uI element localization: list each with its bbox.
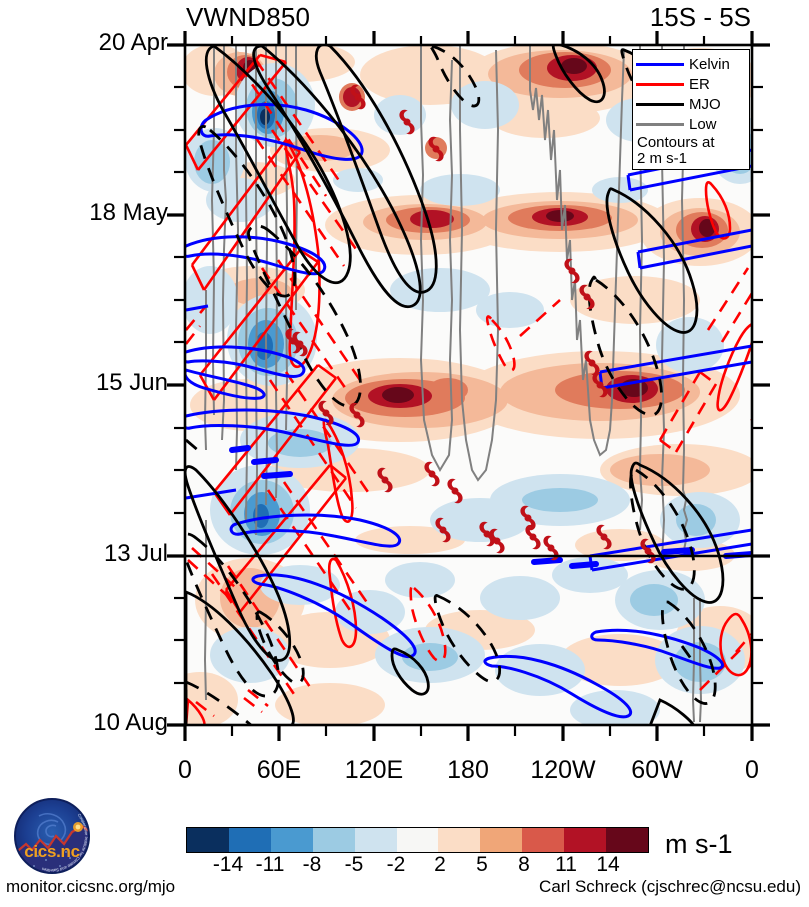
low-line-swatch [636, 123, 684, 126]
colorbar-swatch-3 [313, 828, 355, 852]
legend-note-line2: 2 m s-1 [637, 151, 749, 167]
legend-note-line1: Contours at [637, 135, 749, 151]
colorbar-unit-label: m s-1 [665, 829, 733, 860]
y-tick-label-0: 20 Apr [8, 29, 168, 57]
legend-label-er: ER [689, 77, 710, 92]
er-line-swatch [636, 83, 684, 86]
x-tick-label-3: 180 [423, 756, 513, 785]
colorbar-swatch-5 [397, 828, 439, 852]
colorbar-swatch-10 [606, 828, 648, 852]
x-tick-label-1: 60E [234, 756, 324, 785]
y-tick-label-3: 13 Jul [8, 540, 168, 568]
cics-nc-logo[interactable]: Cooperative Institute for Climate and Sa… [12, 796, 92, 876]
legend-label-mjo: MJO [689, 97, 721, 112]
colorbar-tick-9: 14 [578, 853, 638, 877]
colorbar-swatch-8 [522, 828, 564, 852]
mjo-line-swatch [636, 103, 684, 106]
colorbar [186, 827, 649, 853]
footer-credit: Carl Schreck (cjschrec@ncsu.edu) [539, 877, 801, 897]
x-tick-label-6: 0 [707, 756, 797, 785]
colorbar-swatch-2 [271, 828, 313, 852]
colorbar-swatch-6 [438, 828, 480, 852]
legend-item-kelvin: Kelvin [633, 54, 749, 74]
colorbar-swatch-4 [355, 828, 397, 852]
legend-item-er: ER [633, 74, 749, 94]
colorbar-swatch-1 [229, 828, 271, 852]
legend-item-low: Low [633, 114, 749, 134]
x-tick-label-0: 0 [140, 756, 230, 785]
colorbar-ticks: -14 -11 -8 -5 -2 2 5 8 11 14 [186, 853, 649, 879]
kelvin-line-swatch [636, 63, 684, 66]
legend-label-kelvin: Kelvin [689, 57, 730, 72]
legend-label-low: Low [689, 117, 717, 132]
y-tick-label-2: 15 Jun [8, 369, 168, 397]
x-tick-label-4: 120W [518, 756, 608, 785]
footer-url[interactable]: monitor.cicsnc.org/mjo [6, 877, 175, 897]
legend-item-mjo: MJO [633, 94, 749, 114]
x-tick-label-2: 120E [329, 756, 419, 785]
y-tick-label-4: 10 Aug [8, 709, 168, 737]
colorbar-swatch-7 [480, 828, 522, 852]
y-tick-label-1: 18 May [8, 199, 168, 227]
x-tick-label-5: 60W [612, 756, 702, 785]
hovmoller-figure: VWND850 15S - 5S [0, 0, 809, 907]
colorbar-swatch-0 [187, 828, 229, 852]
legend-note: Contours at 2 m s-1 [633, 135, 749, 167]
legend: Kelvin ER MJO Low Contours at 2 m s-1 [632, 49, 750, 170]
colorbar-swatch-9 [564, 828, 606, 852]
